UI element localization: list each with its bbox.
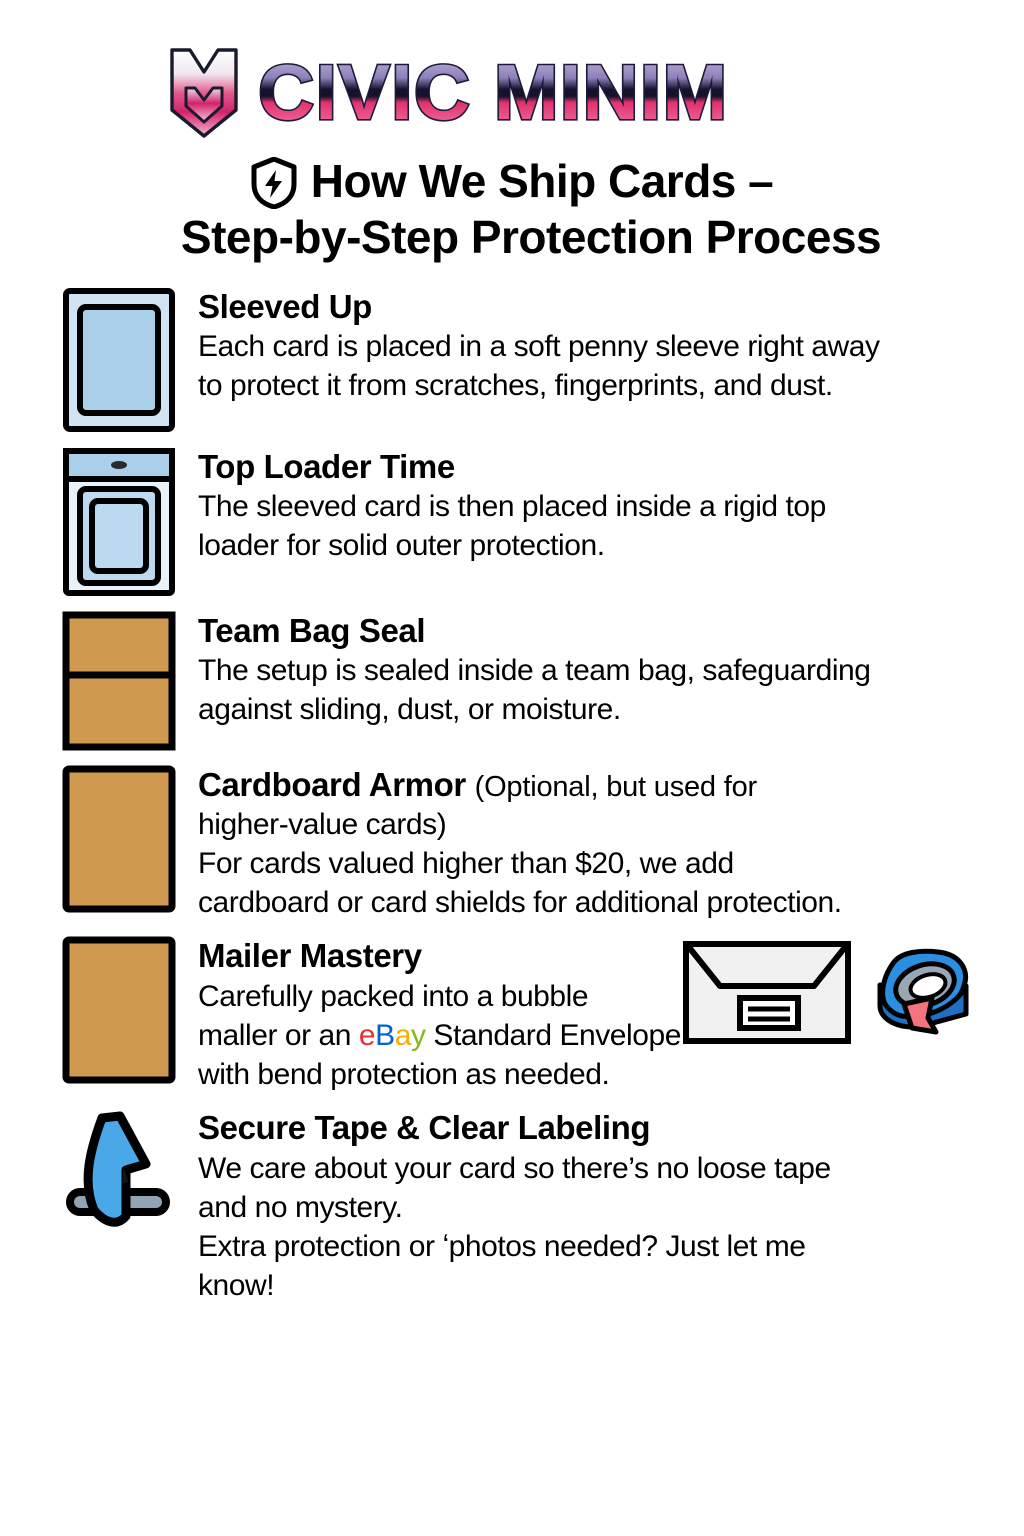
step-title: Sleeved Up (198, 289, 1002, 326)
brand-name-text: CIVIC MINIM (258, 49, 728, 135)
step-body: Secure Tape & Clear Labeling We care abo… (198, 1108, 1002, 1305)
envelope-icon (682, 940, 852, 1045)
civic-minim-logo-mark (166, 44, 242, 140)
ebay-wordmark: eBay (359, 1019, 426, 1052)
step-title-note-line2: higher-value cards) (198, 805, 1002, 844)
step-body: Team Bag Seal The setup is sealed inside… (198, 611, 1002, 730)
penny-sleeve-icon (62, 287, 176, 433)
step-desc-line: against sliding, dust, or moisture. (198, 690, 1002, 729)
step-desc-line: Extra protection or ʻphotos needed? Just… (198, 1227, 1002, 1266)
step-sleeved-up: Sleeved Up Each card is placed in a soft… (62, 287, 1002, 433)
step-desc-line: with bend protection as needed. (198, 1055, 1002, 1094)
step-body: Sleeved Up Each card is placed in a soft… (198, 287, 1002, 406)
steps-list: Sleeved Up Each card is placed in a soft… (0, 287, 1024, 1306)
step-secure-tape: Secure Tape & Clear Labeling We care abo… (62, 1108, 1002, 1305)
civic-minim-wordmark: CIVIC MINIM (258, 49, 858, 135)
step-mailer-mastery: Mailer Mastery Carefully packed into a b… (62, 936, 1002, 1094)
step-cardboard-armor: Cardboard Armor (Optional, but used for … (62, 765, 1002, 923)
cardboard-icon (62, 765, 176, 913)
mailer-text-b: Standard Envelope (426, 1019, 681, 1052)
page-title: How We Ship Cards – Step-by-Step Protect… (0, 154, 1024, 265)
mailer-supply-icons (682, 940, 980, 1045)
step-desc-line: The setup is sealed inside a team bag, s… (198, 651, 1002, 690)
step-top-loader: Top Loader Time The sleeved card is then… (62, 447, 1002, 597)
step-desc-line: to protect it from scratches, fingerprin… (198, 366, 1002, 405)
step-desc-line: cardboard or card shields for additional… (198, 883, 1002, 922)
step-desc-line: know! (198, 1266, 1002, 1305)
top-loader-icon (62, 447, 176, 597)
step-desc-line: We care about your card so there’s no lo… (198, 1149, 1002, 1188)
step-title: Team Bag Seal (198, 613, 1002, 650)
title-text-1: How We Ship Cards – (311, 154, 774, 208)
step-title-text: Cardboard Armor (198, 766, 466, 803)
shield-bolt-icon (251, 157, 297, 209)
step-title: Top Loader Time (198, 449, 1002, 486)
step-desc-line: For cards valued higher than $20, we add (198, 844, 1002, 883)
step-desc-line: Each card is placed in a soft penny slee… (198, 327, 1002, 366)
cardboard-icon (62, 936, 176, 1084)
title-line-2: Step-by-Step Protection Process (40, 210, 984, 264)
title-text-2: Step-by-Step Protection Process (181, 210, 881, 264)
step-body: Top Loader Time The sleeved card is then… (198, 447, 1002, 566)
step-title: Secure Tape & Clear Labeling (198, 1110, 1002, 1147)
step-title: Cardboard Armor (Optional, but used for (198, 767, 1002, 804)
step-desc-line: and no mystery. (198, 1188, 1002, 1227)
step-desc-line: The sleeved card is then placed inside a… (198, 487, 1002, 526)
team-bag-icon (62, 611, 176, 751)
brand-header: CIVIC MINIM (0, 0, 1024, 140)
step-body: Cardboard Armor (Optional, but used for … (198, 765, 1002, 923)
mailer-text-a: maller or an (198, 1019, 359, 1052)
step-title-note: (Optional, but used for (475, 771, 757, 803)
tape-dispenser-icon (62, 1108, 176, 1236)
step-desc-line: loader for solid outer protection. (198, 526, 1002, 565)
tape-roll-icon (870, 940, 980, 1045)
step-team-bag: Team Bag Seal The setup is sealed inside… (62, 611, 1002, 751)
title-line-1: How We Ship Cards – (40, 154, 984, 208)
